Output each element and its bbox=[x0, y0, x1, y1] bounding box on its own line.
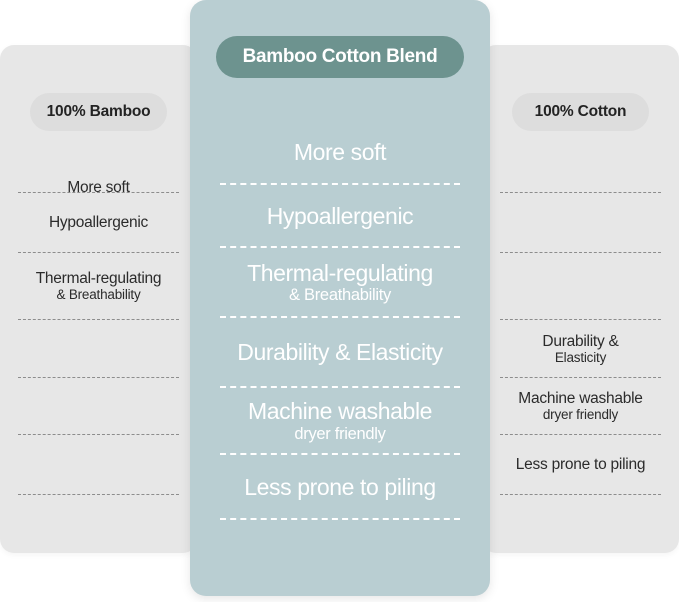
feature-label: Durability & bbox=[542, 333, 618, 350]
feature-row: Thermal-regulating & Breathability bbox=[14, 253, 183, 320]
feature-label: Thermal-regulating bbox=[36, 270, 162, 287]
panel-blend-rows: More soft Hypoallergenic Thermal-regulat… bbox=[190, 120, 490, 568]
feature-sublabel: dryer friendly bbox=[543, 407, 618, 423]
feature-label: Less prone to piling bbox=[516, 456, 645, 473]
feature-row: More soft bbox=[212, 120, 468, 185]
feature-sublabel: & Breathability bbox=[289, 286, 391, 305]
feature-row bbox=[496, 253, 665, 320]
feature-label: Thermal-regulating bbox=[247, 261, 433, 287]
panel-cotton-rows: Durability & Elasticity Machine washable… bbox=[482, 182, 679, 543]
feature-row: Durability & Elasticity bbox=[212, 318, 468, 388]
feature-row: Machine washable dryer friendly bbox=[496, 378, 665, 435]
feature-row bbox=[14, 320, 183, 378]
feature-sublabel: dryer friendly bbox=[294, 425, 385, 444]
feature-label: Hypoallergenic bbox=[267, 204, 414, 230]
feature-sublabel: Elasticity bbox=[555, 350, 606, 366]
feature-row bbox=[14, 435, 183, 495]
feature-row: Hypoallergenic bbox=[14, 193, 183, 253]
feature-row: Less prone to piling bbox=[496, 435, 665, 495]
panel-blend-header: Bamboo Cotton Blend bbox=[216, 36, 464, 78]
feature-label: More soft bbox=[294, 140, 386, 166]
panel-bamboo-cotton-blend: Bamboo Cotton Blend More soft Hypoallerg… bbox=[190, 0, 490, 596]
feature-label: Durability & Elasticity bbox=[237, 340, 443, 366]
feature-label: Hypoallergenic bbox=[49, 214, 148, 231]
feature-row: Thermal-regulating & Breathability bbox=[212, 248, 468, 318]
comparison-chart: 100% Bamboo More soft Hypoallergenic The… bbox=[0, 0, 679, 602]
feature-row bbox=[496, 182, 665, 193]
feature-label: Machine washable bbox=[248, 399, 432, 425]
feature-row: More soft bbox=[14, 182, 183, 193]
feature-row bbox=[14, 378, 183, 435]
feature-row: Machine washable dryer friendly bbox=[212, 388, 468, 455]
feature-sublabel: & Breathability bbox=[56, 287, 140, 303]
panel-bamboo: 100% Bamboo More soft Hypoallergenic The… bbox=[0, 45, 197, 553]
feature-row: Less prone to piling bbox=[212, 455, 468, 520]
panel-bamboo-rows: More soft Hypoallergenic Thermal-regulat… bbox=[0, 182, 197, 543]
panel-cotton: 100% Cotton Durability & Elasticity Mach… bbox=[482, 45, 679, 553]
feature-row: Hypoallergenic bbox=[212, 185, 468, 248]
feature-row: Durability & Elasticity bbox=[496, 320, 665, 378]
feature-row bbox=[496, 193, 665, 253]
panel-bamboo-header: 100% Bamboo bbox=[30, 93, 167, 131]
feature-label: Machine washable bbox=[518, 390, 642, 407]
panel-cotton-header: 100% Cotton bbox=[512, 93, 649, 131]
feature-label: Less prone to piling bbox=[244, 475, 435, 501]
